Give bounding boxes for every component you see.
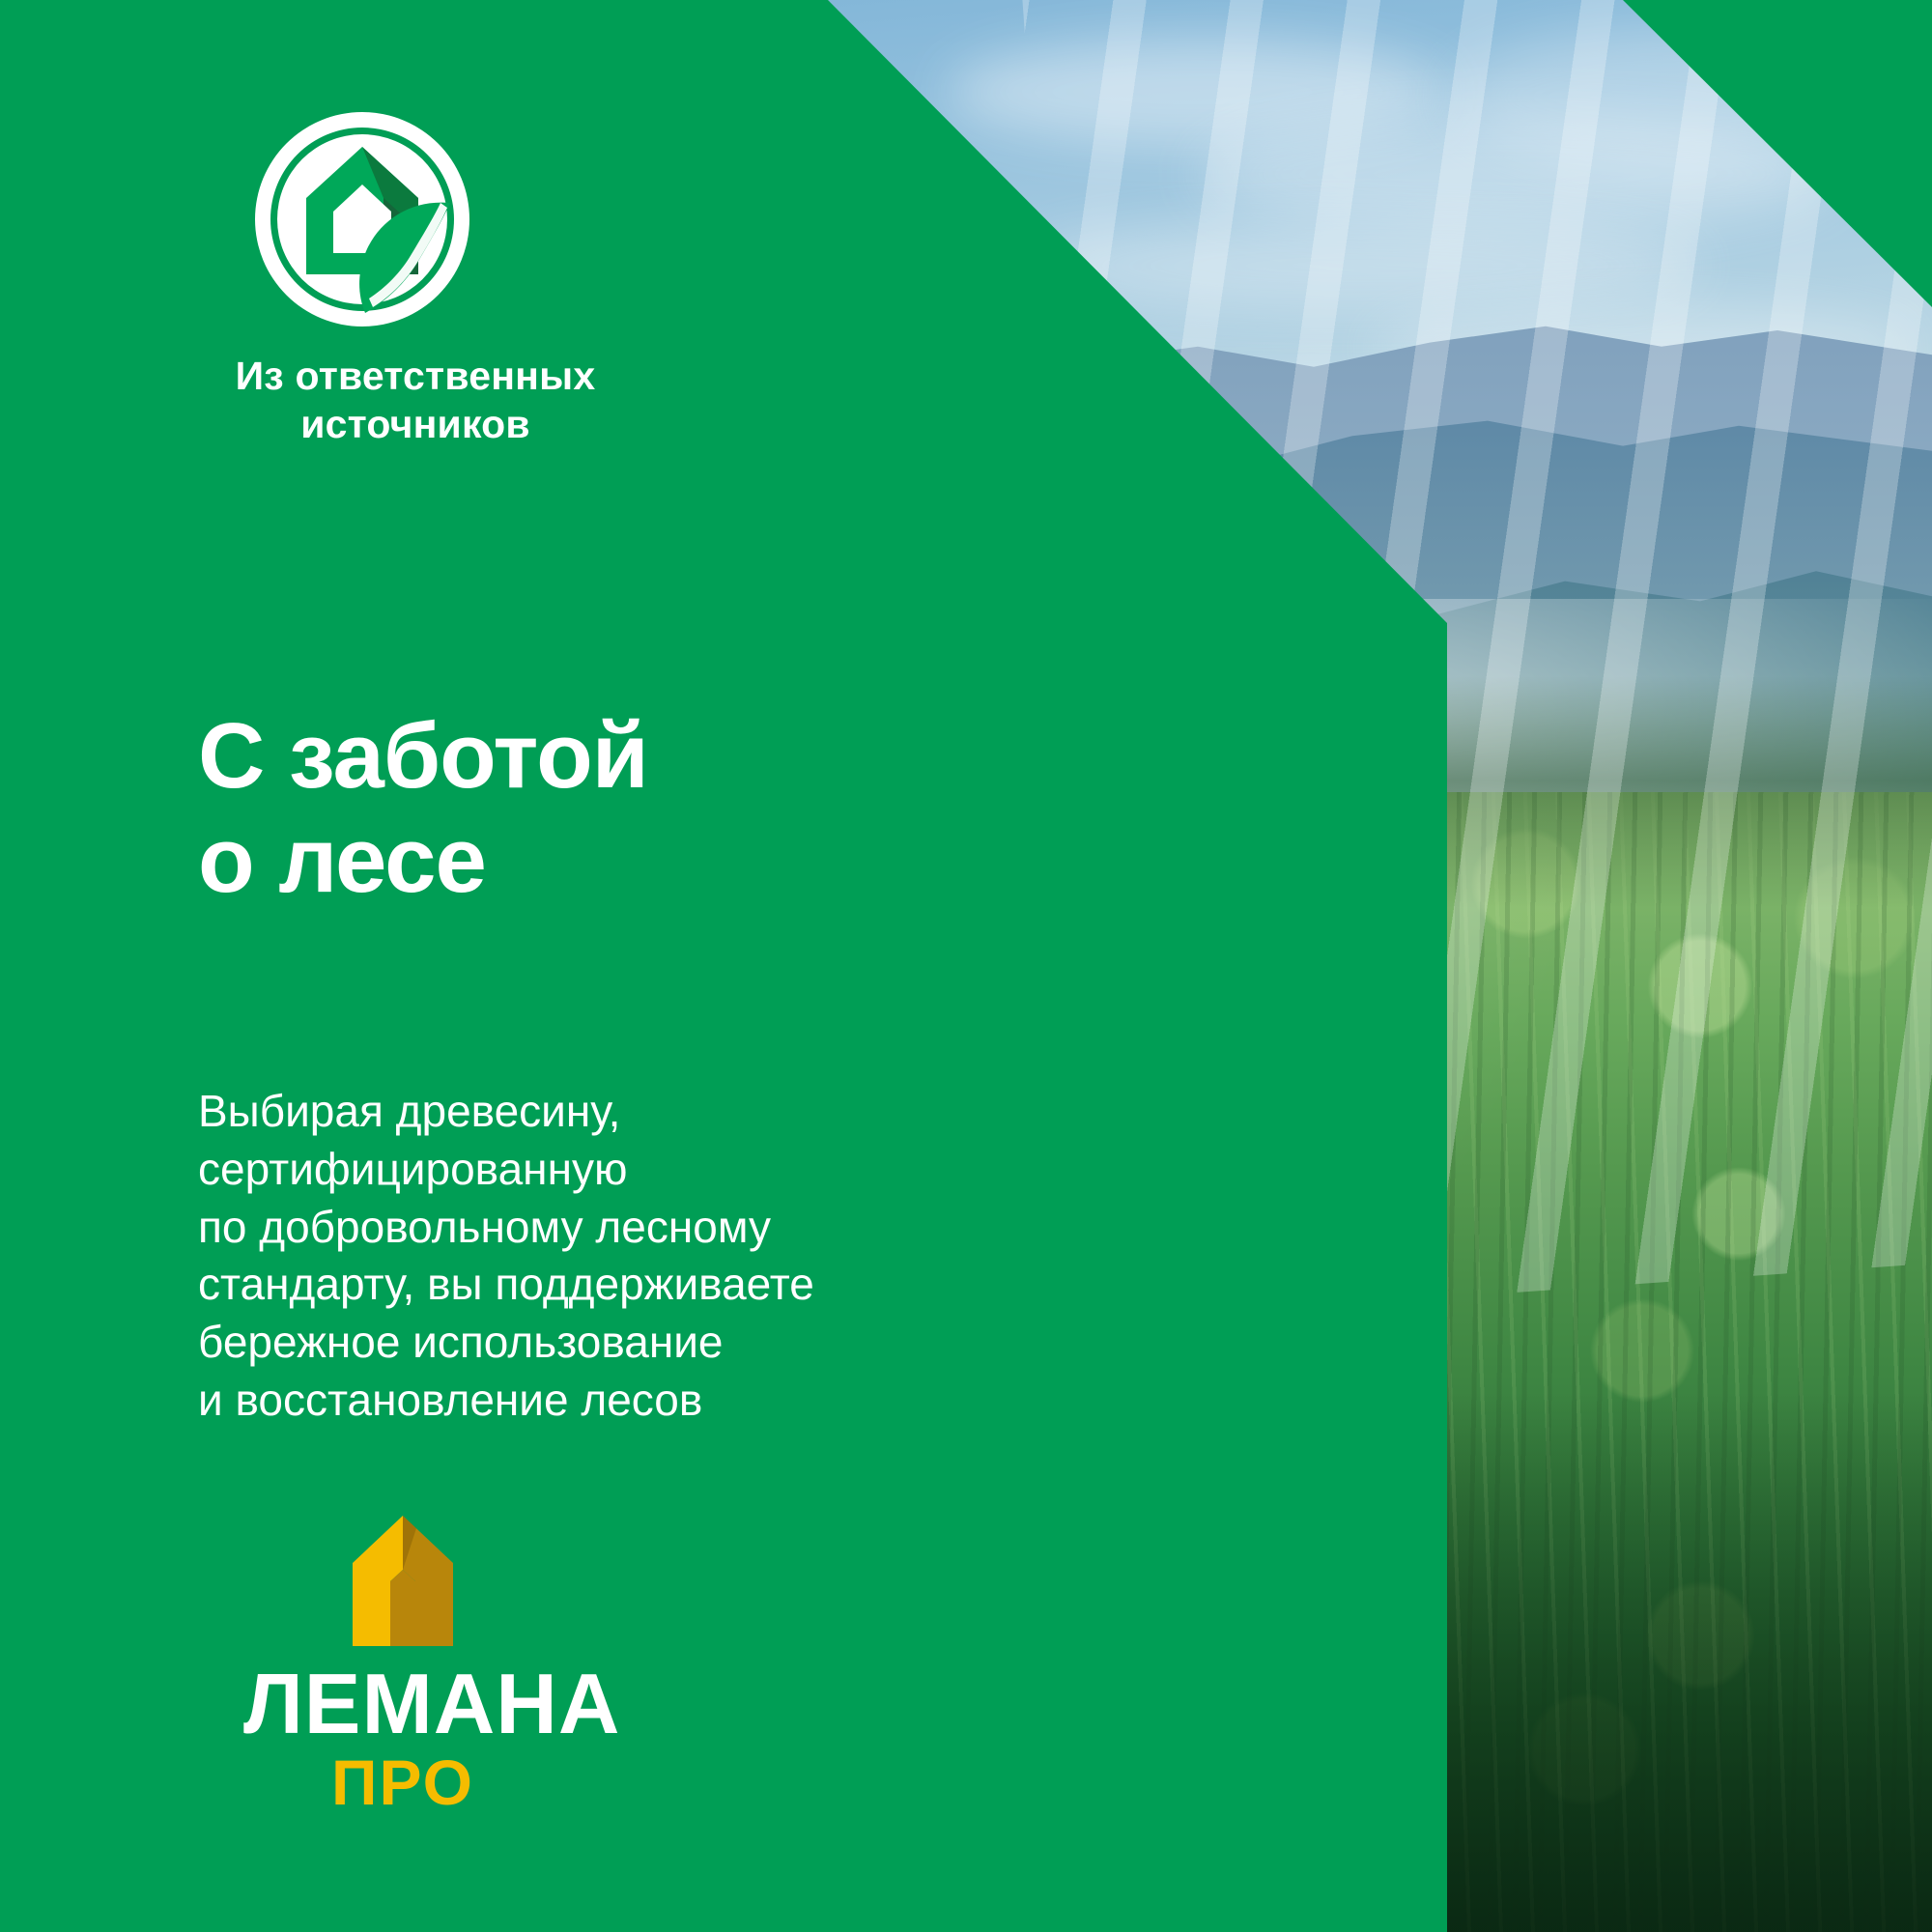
poster-content: Из ответственных источников С заботой о … — [0, 0, 1447, 1932]
responsible-sourcing-house-leaf-emblem-icon — [251, 108, 473, 330]
brand-logo: ЛЕМАНА ПРО — [243, 1516, 562, 1814]
page-title: С заботой о лесе — [198, 704, 648, 912]
eco-badge: Из ответственных источников — [198, 108, 739, 448]
lemana-pro-house-roof-logo-icon — [337, 1516, 469, 1646]
eco-badge-caption: Из ответственных источников — [198, 352, 633, 448]
brand-name: ЛЕМАНА — [243, 1663, 562, 1745]
brand-subname: ПРО — [243, 1750, 562, 1814]
poster-canvas: Из ответственных источников С заботой о … — [0, 0, 1932, 1932]
body-paragraph: Выбирая древесину, сертифицированную по … — [198, 1083, 814, 1430]
